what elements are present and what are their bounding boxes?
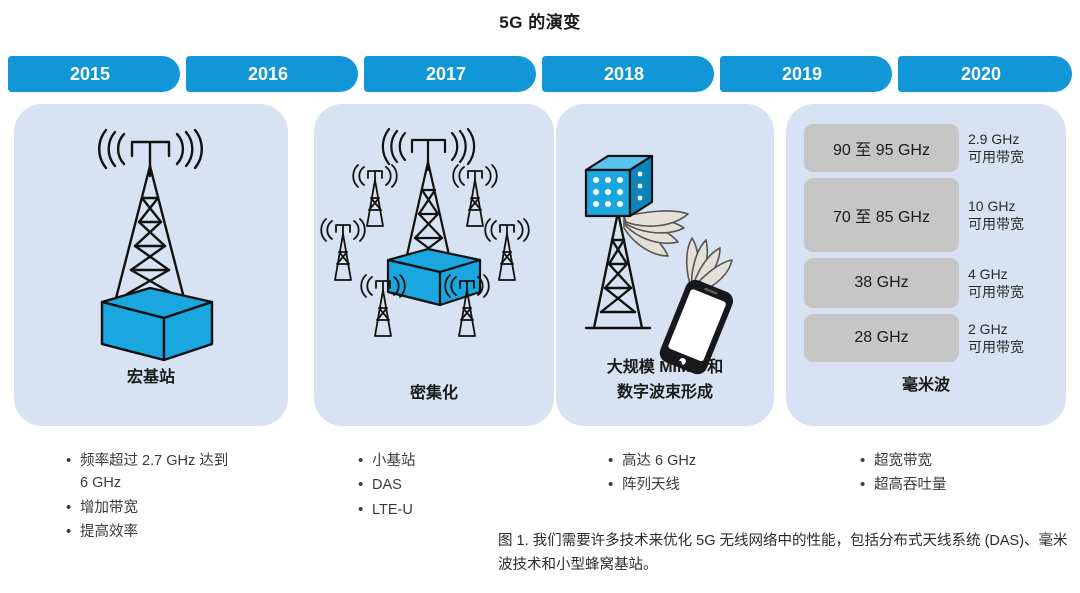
band-bandwidth-label: 可用带宽 bbox=[968, 215, 1024, 233]
macro-tower-icon bbox=[14, 110, 288, 370]
band-range-chip: 90 至 95 GHz bbox=[804, 124, 959, 172]
band-bandwidth: 2.9 GHz 可用带宽 bbox=[968, 130, 1024, 166]
panel-caption-macro-cell: 宏基站 bbox=[14, 366, 288, 389]
band-row-90-95[interactable]: 90 至 95 GHz 2.9 GHz 可用带宽 bbox=[804, 124, 1024, 172]
panel-densification[interactable]: 密集化 bbox=[314, 104, 554, 426]
timeline-year-2019[interactable]: 2019 bbox=[720, 56, 892, 92]
panel-macro-cell[interactable]: 宏基站 bbox=[14, 104, 288, 426]
panel-caption-massive-mimo-line1: 大规模 MIMO 和 bbox=[556, 356, 774, 379]
band-range-chip: 70 至 85 GHz bbox=[804, 178, 959, 252]
band-bandwidth-value: 4 GHz bbox=[968, 266, 1008, 282]
band-range-chip: 28 GHz bbox=[804, 314, 959, 362]
list-item: DAS bbox=[358, 474, 558, 496]
band-bandwidth: 10 GHz 可用带宽 bbox=[968, 197, 1024, 233]
band-bandwidth-value: 10 GHz bbox=[968, 198, 1015, 214]
timeline-year-2017[interactable]: 2017 bbox=[364, 56, 536, 92]
list-item: LTE-U bbox=[358, 499, 558, 521]
band-row-70-85[interactable]: 70 至 85 GHz 10 GHz 可用带宽 bbox=[804, 178, 1024, 252]
band-bandwidth: 4 GHz 可用带宽 bbox=[968, 265, 1024, 301]
massive-mimo-icon bbox=[556, 132, 774, 376]
bullet-list-massive-mimo: 高达 6 GHz 阵列天线 bbox=[608, 450, 808, 499]
timeline-year-2018[interactable]: 2018 bbox=[542, 56, 714, 92]
list-item: 小基站 bbox=[358, 450, 558, 472]
list-item: 增加带宽 bbox=[66, 497, 316, 519]
band-bandwidth-label: 可用带宽 bbox=[968, 338, 1024, 356]
list-item: 高达 6 GHz bbox=[608, 450, 808, 472]
timeline-year-2015[interactable]: 2015 bbox=[8, 56, 180, 92]
timeline-year-2016[interactable]: 2016 bbox=[186, 56, 358, 92]
bullet-list-mmwave: 超宽带宽 超高吞吐量 bbox=[860, 450, 1060, 499]
densification-icon bbox=[314, 110, 554, 372]
figure-caption: 图 1. 我们需要许多技术来优化 5G 无线网络中的性能，包括分布式天线系统 (… bbox=[498, 530, 1068, 578]
panel-caption-massive-mimo-line2: 数字波束形成 bbox=[556, 381, 774, 404]
band-bandwidth-value: 2.9 GHz bbox=[968, 131, 1019, 147]
list-item: 阵列天线 bbox=[608, 474, 808, 496]
band-range-chip: 38 GHz bbox=[804, 258, 959, 308]
timeline-bar: 2015 2016 2017 2018 2019 2020 bbox=[8, 56, 1072, 92]
band-bandwidth-value: 2 GHz bbox=[968, 321, 1008, 337]
panel-massive-mimo[interactable]: 大规模 MIMO 和 数字波束形成 bbox=[556, 104, 774, 426]
infographic-root: 5G 的演变 2015 2016 2017 2018 2019 2020 bbox=[0, 0, 1080, 593]
panel-mmwave[interactable]: 90 至 95 GHz 2.9 GHz 可用带宽 70 至 85 GHz 10 … bbox=[786, 104, 1066, 426]
list-item: 频率超过 2.7 GHz 达到 6 GHz bbox=[66, 450, 316, 495]
band-bandwidth-label: 可用带宽 bbox=[968, 283, 1024, 301]
list-item: 提高效率 bbox=[66, 521, 316, 543]
band-row-28[interactable]: 28 GHz 2 GHz 可用带宽 bbox=[804, 314, 1024, 362]
page-title: 5G 的演变 bbox=[0, 8, 1080, 33]
list-item: 超高吞吐量 bbox=[860, 474, 1060, 496]
band-bandwidth: 2 GHz 可用带宽 bbox=[968, 320, 1024, 356]
list-item: 超宽带宽 bbox=[860, 450, 1060, 472]
timeline-year-2020[interactable]: 2020 bbox=[898, 56, 1072, 92]
list-item-continuation: 6 GHz bbox=[80, 472, 316, 494]
band-bandwidth-label: 可用带宽 bbox=[968, 148, 1024, 166]
band-row-38[interactable]: 38 GHz 4 GHz 可用带宽 bbox=[804, 258, 1024, 308]
bullet-list-densification: 小基站 DAS LTE-U bbox=[358, 450, 558, 523]
panel-caption-mmwave: 毫米波 bbox=[786, 374, 1066, 397]
list-item-label: 频率超过 2.7 GHz 达到 bbox=[80, 453, 228, 469]
bullet-list-macro-cell: 频率超过 2.7 GHz 达到 6 GHz 增加带宽 提高效率 bbox=[66, 450, 316, 546]
panel-caption-densification: 密集化 bbox=[314, 382, 554, 405]
